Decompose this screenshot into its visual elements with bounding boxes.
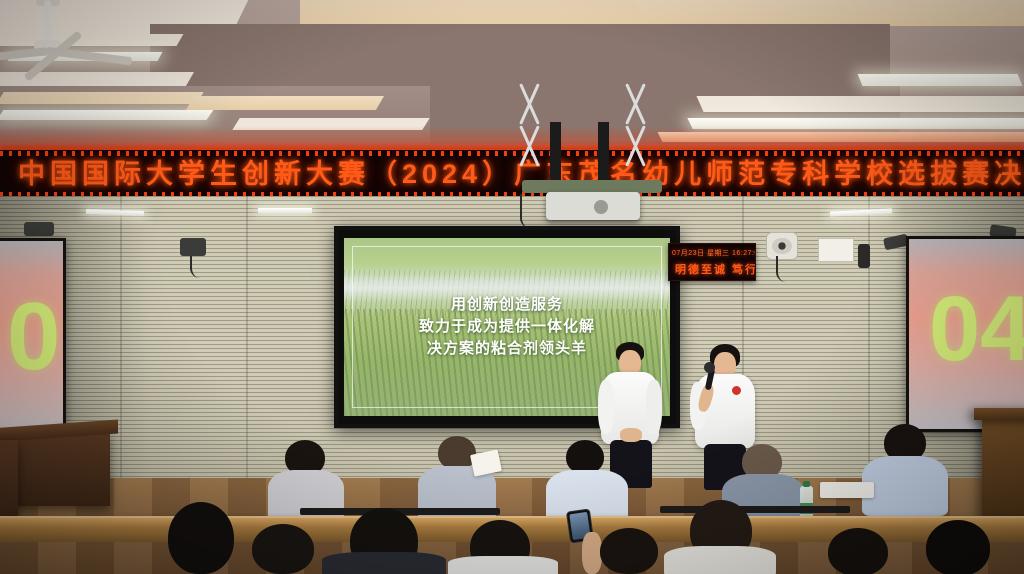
presenter-male-arm-2 xyxy=(646,380,662,434)
audience-head xyxy=(828,528,888,574)
audience-arm xyxy=(582,532,602,574)
judge-papers xyxy=(820,482,874,498)
audience-head xyxy=(600,528,658,574)
slide-line-1: 用创新创造服务 xyxy=(344,294,670,316)
presenter-male-arm xyxy=(598,380,614,434)
side-screen-right-number: 04 xyxy=(929,283,1024,375)
audience-head xyxy=(566,440,604,474)
wall-camera xyxy=(180,238,206,256)
side-screen-left: 0 xyxy=(0,238,66,440)
projector-body xyxy=(546,192,640,220)
ceiling-light-strip-mid xyxy=(258,208,312,213)
presenter-male-hands xyxy=(620,428,642,442)
desk-rail xyxy=(660,506,850,513)
lecture-hall-photo: 中国国际大学生创新大赛（2024）广东茂名幼儿师范专科学校选拔赛决赛 0 04 xyxy=(0,0,1024,574)
audience-head xyxy=(438,436,476,470)
wall-control-panel[interactable] xyxy=(818,238,854,262)
bottle-cap xyxy=(803,481,810,487)
projector-cable xyxy=(520,194,548,228)
camera-cable xyxy=(190,256,206,278)
audience-head xyxy=(926,520,990,574)
audience-body xyxy=(322,552,446,574)
audience-body xyxy=(448,556,558,574)
led-clock-sign: 07月23日 星期三 16:27:00 明德至诚 笃行致远 xyxy=(668,243,756,281)
lectern-side xyxy=(0,440,18,520)
audience-body-judge xyxy=(862,456,948,516)
slide-line-2: 致力于成为提供一体化解 xyxy=(344,316,670,338)
wall-bracket-left xyxy=(24,222,54,236)
ceiling-projector xyxy=(506,76,676,226)
led-sign-line-2: 明德至诚 笃行致远 xyxy=(675,261,756,277)
side-screen-right: 04 xyxy=(906,236,1024,432)
audience-body xyxy=(664,546,776,574)
audience-head xyxy=(252,524,314,574)
presenter-badge xyxy=(732,386,741,395)
projector-lens xyxy=(594,200,608,214)
led-sign-line-1: 07月23日 星期三 16:27:00 xyxy=(672,248,756,258)
side-screen-left-number: 0 xyxy=(7,289,60,385)
microphone-head xyxy=(704,362,715,373)
podium-top xyxy=(974,408,1024,420)
wall-speaker xyxy=(858,244,870,268)
podium xyxy=(982,414,1024,520)
water-bottle xyxy=(800,486,813,520)
wall-fan-cable xyxy=(776,256,798,282)
audience-head xyxy=(168,502,234,574)
